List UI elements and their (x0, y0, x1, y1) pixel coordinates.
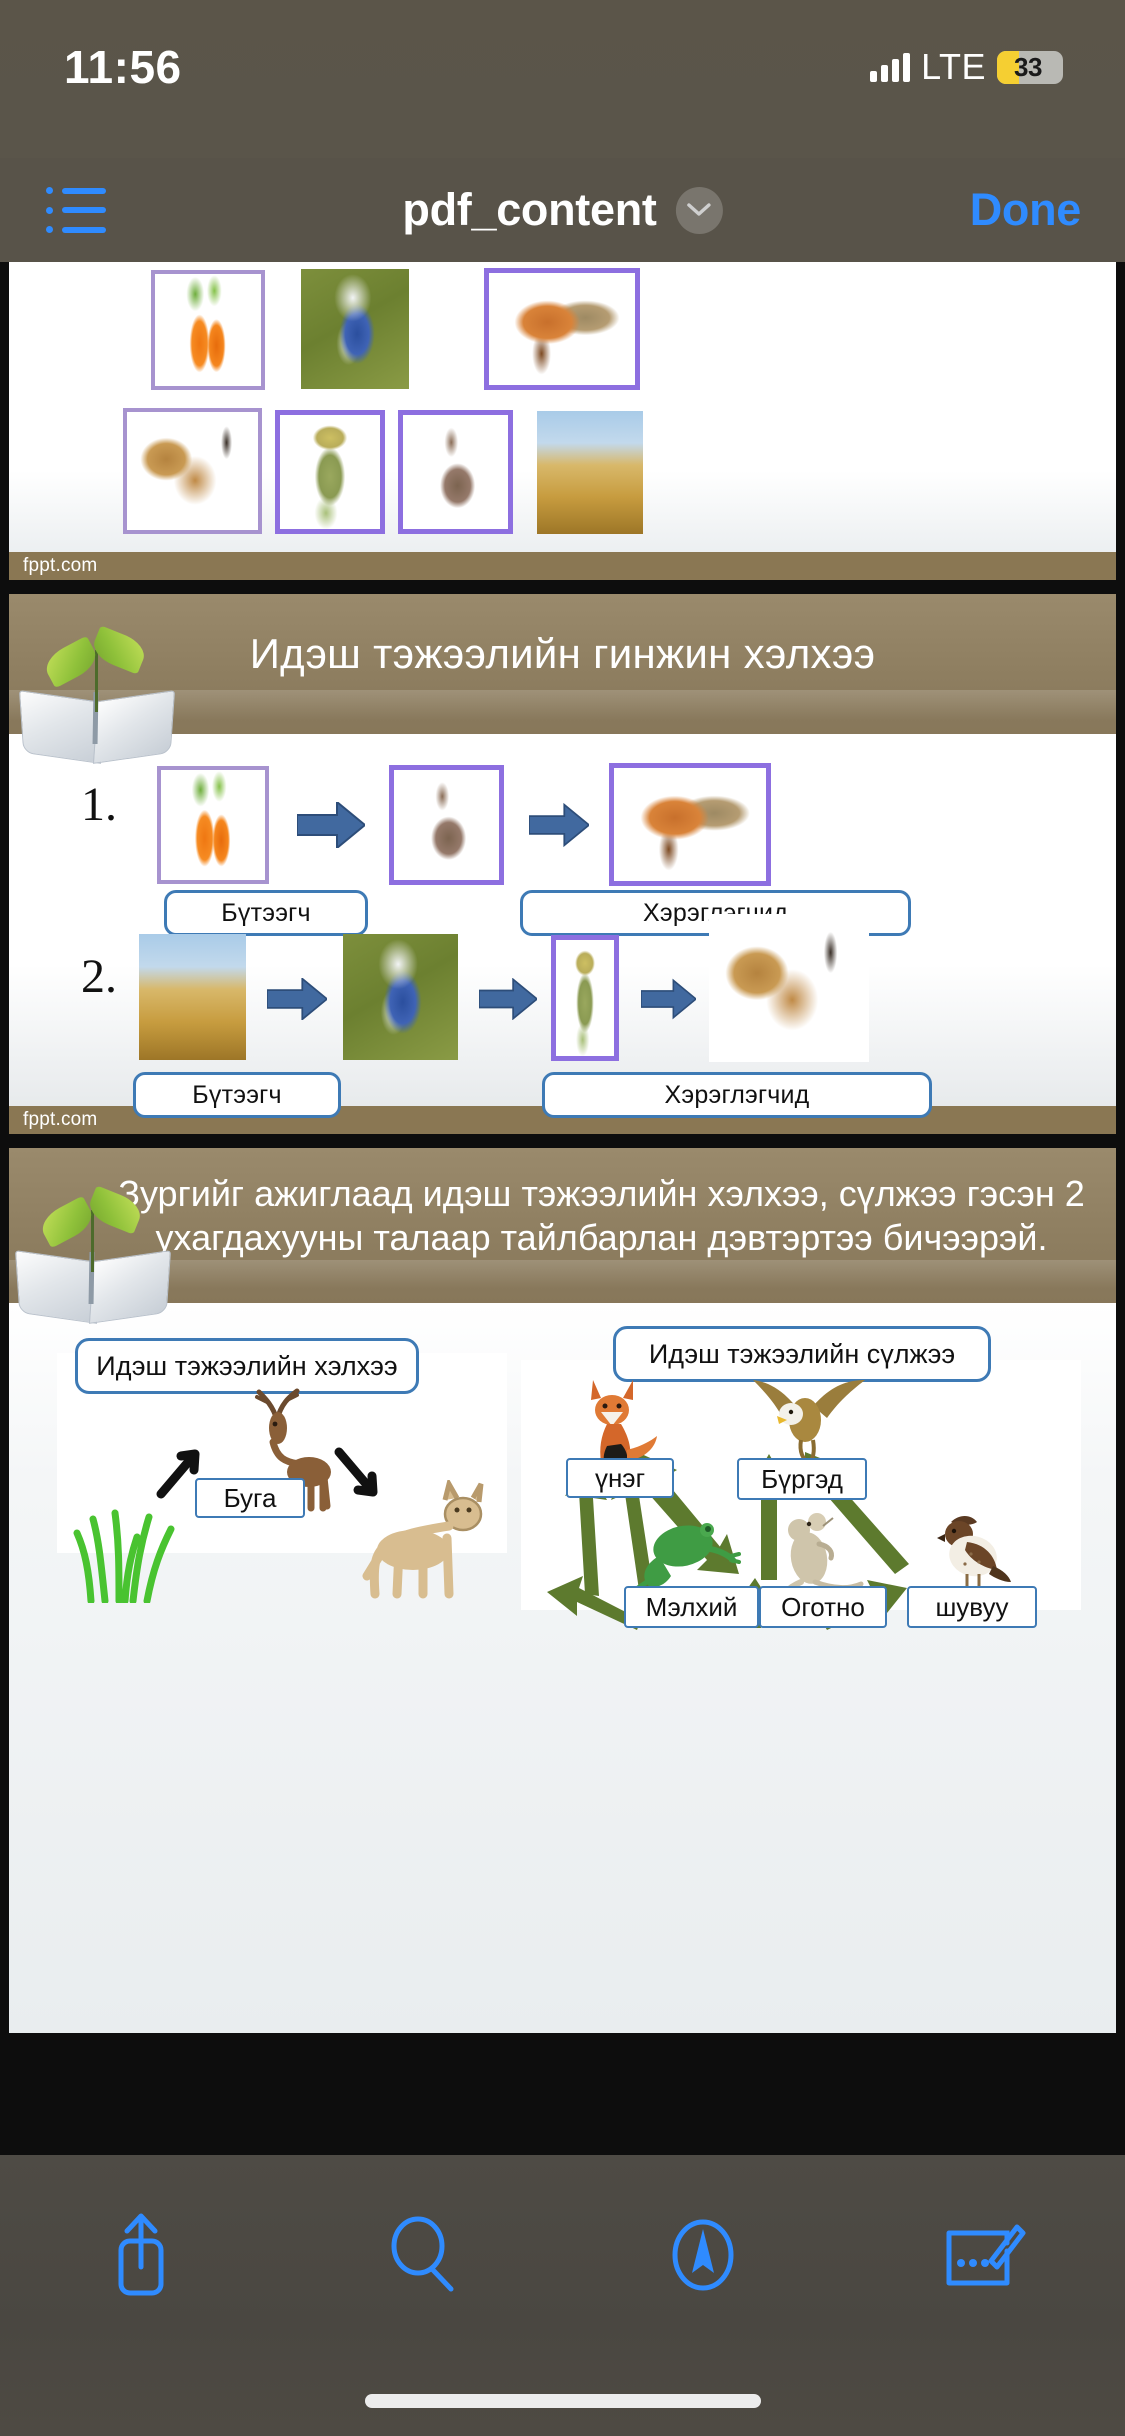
network-type-label: LTE (921, 46, 986, 88)
node-label-deer: Буга (195, 1478, 305, 1518)
home-indicator[interactable] (365, 2394, 761, 2408)
rabbit-image (398, 410, 513, 534)
chain-2-number: 2. (81, 949, 117, 1004)
carrots-image (157, 766, 269, 884)
wolf-icon (361, 1480, 491, 1600)
annotate-button[interactable] (844, 2217, 1125, 2293)
carrots-image (151, 270, 265, 390)
status-bar: 11:56 LTE 33 (0, 0, 1125, 158)
bottom-toolbar (0, 2155, 1125, 2436)
rabbit-image (389, 765, 504, 885)
blue-bird-image (343, 934, 458, 1060)
chain-2-arrow-2 (479, 978, 537, 1020)
share-button[interactable] (0, 2209, 281, 2301)
chain-1-arrow-2 (529, 802, 589, 848)
search-button[interactable] (281, 2215, 562, 2295)
book-sprout-emblem (15, 1192, 175, 1324)
slide-1[interactable] (9, 262, 1116, 552)
slide-2[interactable]: Идэш тэжээлийн гинжин хэлхээ 1. Бүтээгч … (9, 594, 1116, 1106)
annotate-icon (941, 2217, 1027, 2293)
done-button[interactable]: Done (970, 184, 1081, 236)
blue-bird-image (301, 269, 409, 389)
node-label-fox: үнэг (566, 1458, 674, 1498)
navigation-bar: pdf_content Done (0, 158, 1125, 262)
fox-image (484, 268, 640, 390)
owl-image (551, 935, 619, 1061)
share-icon (107, 2209, 175, 2301)
slide-3[interactable]: Зургийг ажиглаад идэш тэжээлийн хэлхээ, … (9, 1148, 1116, 2033)
owl-image (275, 410, 385, 534)
eagle-icon (749, 1374, 869, 1466)
status-indicators: LTE 33 (870, 38, 1063, 88)
search-icon (385, 2215, 459, 2295)
chain-2-label-consumers: Хэрэглэгчид (542, 1072, 932, 1118)
battery-icon: 33 (997, 51, 1063, 84)
chain-2-arrow-3 (641, 978, 696, 1020)
slide-3-title: Зургийг ажиглаад идэш тэжээлийн хэлхээ, … (105, 1172, 1098, 1260)
list-bullet-icon[interactable] (46, 187, 106, 233)
document-title-menu[interactable]: pdf_content (402, 184, 722, 236)
chain-2-label-producer: Бүтээгч (133, 1072, 341, 1118)
fox-image (609, 763, 771, 886)
chain-2-arrow-1 (267, 978, 327, 1020)
chevron-down-icon[interactable] (676, 187, 723, 234)
status-time: 11:56 (64, 38, 182, 90)
chain-1-label-producer: Бүтээгч (164, 890, 368, 936)
node-label-sparrow: шувуу (907, 1586, 1037, 1628)
node-label-mouse: Оготно (759, 1586, 887, 1628)
battery-percent-label: 33 (997, 52, 1063, 83)
fox-icon (577, 1374, 663, 1466)
node-label-eagle: Бүргэд (737, 1458, 867, 1500)
book-sprout-emblem (19, 632, 179, 764)
grass-icon (71, 1493, 191, 1603)
chain-1-arrow-1 (297, 802, 365, 848)
cellular-signal-icon (870, 52, 910, 82)
brand-footer-label: fppt.com (23, 555, 97, 577)
brand-footer-label: fppt.com (23, 1109, 97, 1131)
chain-1-number: 1. (81, 777, 117, 832)
node-label-frog: Мэлхий (624, 1586, 759, 1628)
cat-image (123, 408, 262, 534)
cat-image (709, 914, 869, 1062)
markup-button[interactable] (563, 2215, 844, 2295)
pdf-scroll-area[interactable]: fppt.com Идэш тэжээлийн гинжин хэлхээ 1.… (0, 262, 1125, 2155)
markup-pen-icon (663, 2215, 743, 2295)
page-title: pdf_content (402, 184, 656, 236)
brand-footer: fppt.com (9, 552, 1116, 580)
wheat-field-image (537, 411, 643, 534)
wheat-field-image (139, 934, 246, 1060)
